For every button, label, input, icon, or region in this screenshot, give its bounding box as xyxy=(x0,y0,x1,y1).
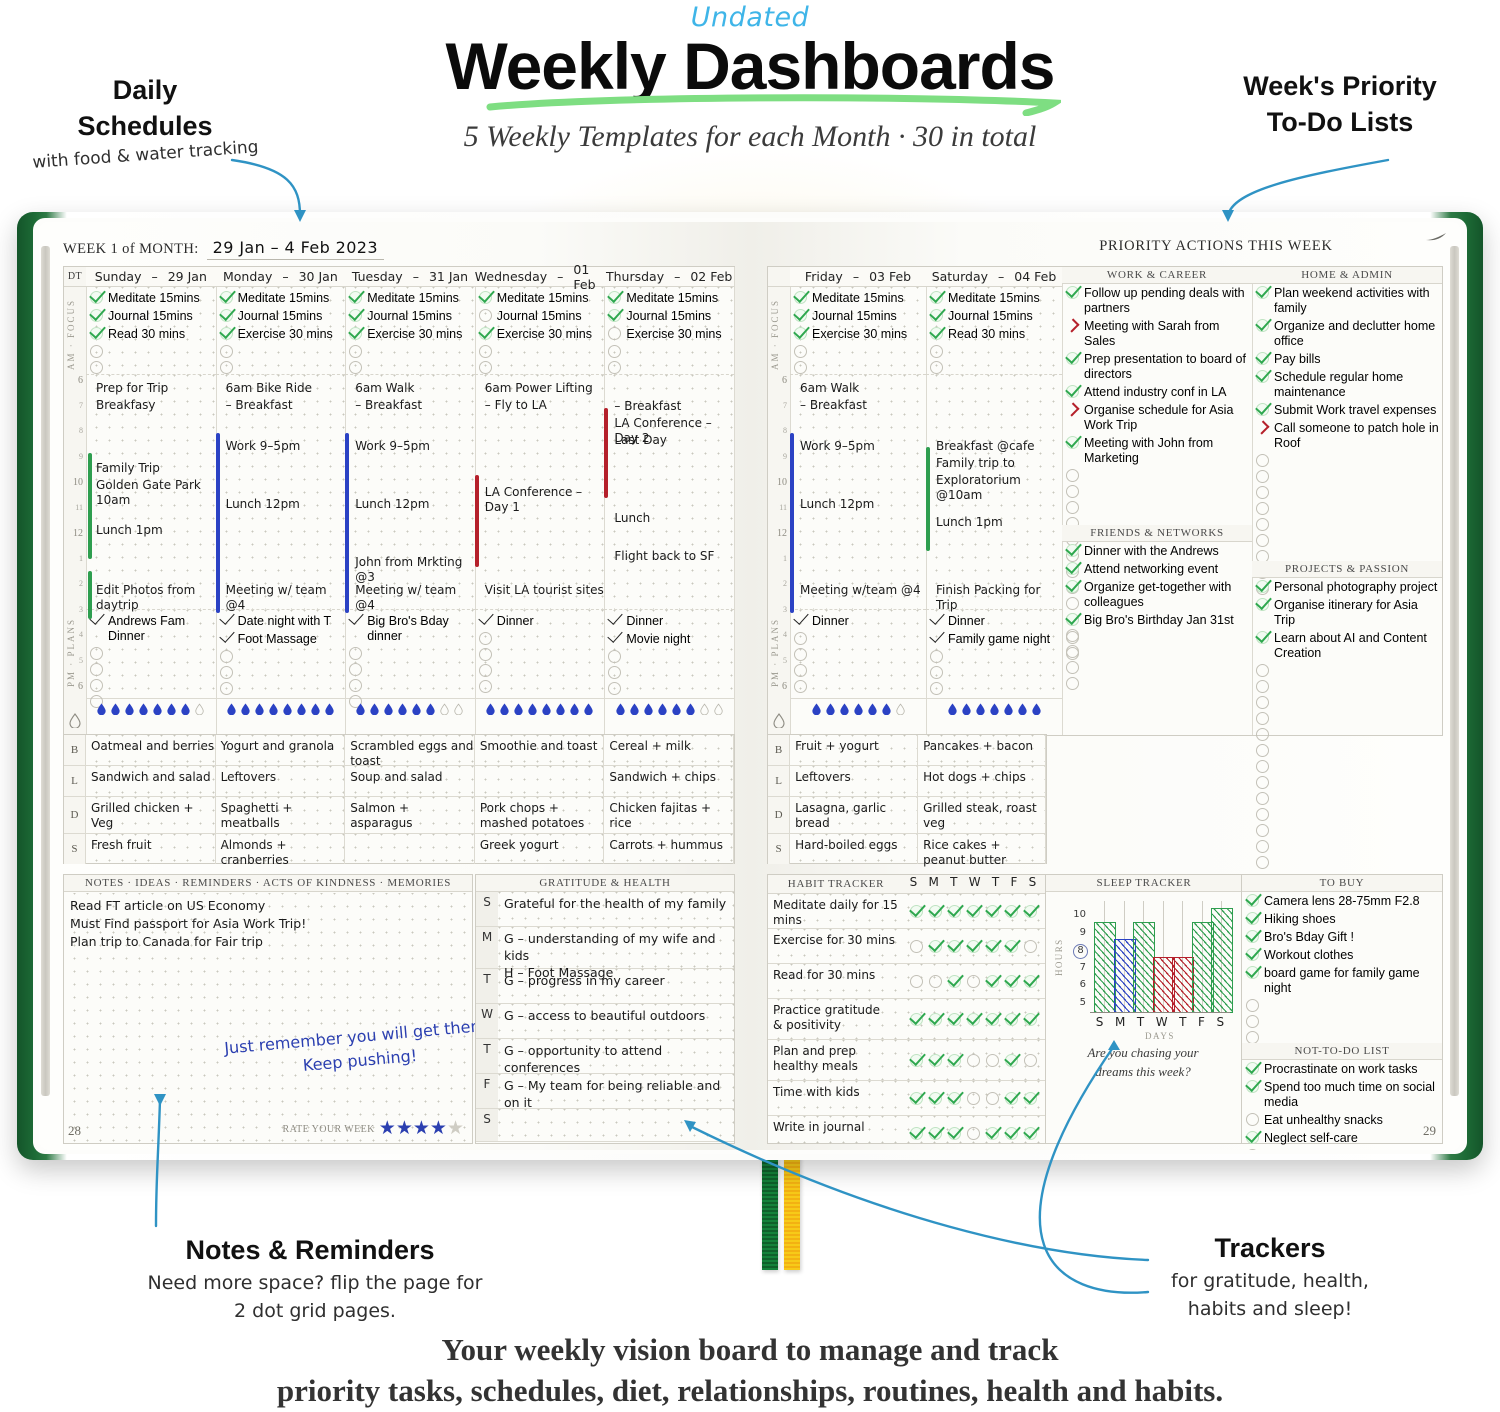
schedule-event[interactable]: – Fly to LA xyxy=(485,398,547,413)
checkbox-checked[interactable] xyxy=(349,309,362,322)
checkbox-empty[interactable] xyxy=(1246,1031,1259,1044)
star-icon[interactable]: ★ xyxy=(379,1118,396,1139)
checkbox-checked[interactable] xyxy=(1256,631,1269,644)
schedule-event[interactable]: Work 9–5pm xyxy=(226,439,301,454)
list-item[interactable]: Meeting with John from Marketing xyxy=(1062,434,1252,467)
water-drop-icon[interactable] xyxy=(976,703,985,715)
list-item[interactable]: Foot Massage xyxy=(216,630,346,648)
checkbox-checked[interactable] xyxy=(986,1127,999,1140)
water-drop-icon[interactable] xyxy=(412,703,421,715)
water-drop-icon[interactable] xyxy=(97,703,106,715)
water-drop-icon[interactable] xyxy=(962,703,971,715)
checkbox-empty[interactable] xyxy=(1024,940,1037,953)
gratitude-text[interactable]: G – opportunity to attend conferences xyxy=(498,1039,734,1073)
list-item[interactable] xyxy=(790,662,926,678)
schedule-event[interactable]: John from Mrkting @3 xyxy=(355,555,475,585)
checkbox-checked[interactable] xyxy=(948,940,961,953)
checkbox-empty[interactable] xyxy=(479,648,492,661)
list-item[interactable]: Plan weekend activities with family xyxy=(1252,284,1442,317)
star-icon[interactable]: ★ xyxy=(413,1118,430,1139)
am-focus-block[interactable]: Meditate 15minsJournal 15minsRead 30 min… xyxy=(86,287,216,374)
checkbox-checked[interactable] xyxy=(90,327,103,340)
list-item[interactable]: board game for family game night xyxy=(1242,964,1442,997)
water-drop-icon[interactable] xyxy=(882,703,891,715)
schedule-event[interactable]: Lunch 1pm xyxy=(936,515,1003,530)
checkbox-checked[interactable] xyxy=(1256,598,1269,611)
list-item[interactable]: Procrastinate on work tasks xyxy=(1242,1060,1442,1078)
list-item[interactable] xyxy=(1062,645,1252,661)
list-item[interactable]: Exercise 30 mins xyxy=(216,325,346,343)
week-date-range[interactable]: 29 Jan – 4 Feb 2023 xyxy=(207,238,384,260)
checkbox-empty[interactable] xyxy=(1066,631,1079,644)
meal-cell[interactable]: Lasagna, garlic bread xyxy=(790,797,918,833)
water-drop-icon[interactable] xyxy=(153,703,162,715)
schedule-block[interactable]: 6am Bike Ride– BreakfastWork 9–5pmLunch … xyxy=(216,374,346,609)
checkbox-checked[interactable] xyxy=(1256,370,1269,383)
checkbox-checked[interactable] xyxy=(1246,1080,1259,1093)
gratitude-text[interactable]: G – understanding of my wife and kidsH –… xyxy=(498,927,734,968)
gratitude-row[interactable]: TG – opportunity to attend conferences xyxy=(476,1039,734,1074)
list-item[interactable] xyxy=(926,359,1062,375)
schedule-event[interactable]: Work 9–5pm xyxy=(355,439,430,454)
water-drop-icon[interactable] xyxy=(454,703,463,715)
checkbox-empty[interactable] xyxy=(1256,712,1269,725)
checkbox-empty[interactable] xyxy=(1246,1015,1259,1028)
list-item[interactable]: Pay bills xyxy=(1252,350,1442,368)
checkbox-ticked[interactable] xyxy=(220,632,233,645)
water-tracker-row[interactable] xyxy=(345,698,475,718)
checkbox-empty[interactable] xyxy=(608,327,621,340)
list-item[interactable]: Meditate 15mins xyxy=(475,289,605,307)
checkbox-checked[interactable] xyxy=(1246,966,1259,979)
list-item[interactable] xyxy=(86,677,216,693)
schedule-event[interactable]: – Breakfast xyxy=(800,398,867,413)
rate-your-week[interactable]: RATE YOUR WEEK ★★★★★ xyxy=(283,1119,465,1139)
meal-cell[interactable]: Leftovers xyxy=(216,766,346,796)
list-item[interactable] xyxy=(1252,854,1442,870)
schedule-block[interactable]: 6am Walk– BreakfastWork 9–5pmLunch 12pmJ… xyxy=(345,374,475,609)
water-drop-icon[interactable] xyxy=(714,703,723,715)
list-item[interactable] xyxy=(1252,532,1442,548)
schedule-event[interactable]: Work 9–5pm xyxy=(800,439,875,454)
checkbox-checked[interactable] xyxy=(220,291,233,304)
list-item[interactable] xyxy=(790,359,926,375)
water-drop-icon[interactable] xyxy=(125,703,134,715)
list-item[interactable]: Dinner xyxy=(475,612,605,630)
checkbox-empty[interactable] xyxy=(794,361,807,374)
checkbox-checked[interactable] xyxy=(1246,930,1259,943)
gratitude-row[interactable]: MG – understanding of my wife and kidsH … xyxy=(476,927,734,969)
checkbox-checked[interactable] xyxy=(967,1013,980,1026)
habit-marks[interactable] xyxy=(909,1081,1046,1115)
checkbox-empty[interactable] xyxy=(1256,486,1269,499)
checkbox-checked[interactable] xyxy=(608,291,621,304)
checkbox-empty[interactable] xyxy=(1256,824,1269,837)
list-item[interactable] xyxy=(345,677,475,693)
checkbox-checked[interactable] xyxy=(1256,286,1269,299)
schedule-event[interactable]: Lunch 12pm xyxy=(355,497,429,512)
checkbox-checked[interactable] xyxy=(1024,975,1037,988)
checkbox-checked[interactable] xyxy=(986,975,999,988)
list-item[interactable] xyxy=(86,359,216,375)
meal-cell[interactable]: Scrambled eggs and toast xyxy=(345,735,475,765)
checkbox-checked[interactable] xyxy=(967,940,980,953)
checkbox-checked[interactable] xyxy=(986,1013,999,1026)
list-item[interactable]: Exercise 30 mins xyxy=(475,325,605,343)
water-drop-icon[interactable] xyxy=(840,703,849,715)
water-drop-icon[interactable] xyxy=(672,703,681,715)
list-item[interactable] xyxy=(604,664,734,680)
list-item[interactable] xyxy=(475,678,605,694)
list-item[interactable] xyxy=(345,343,475,359)
list-item[interactable] xyxy=(1062,629,1252,645)
list-item[interactable]: Learn about AI and Content Creation xyxy=(1252,629,1442,662)
habit-row[interactable]: Plan and prephealthy meals xyxy=(768,1040,1046,1081)
list-item[interactable] xyxy=(604,343,734,359)
meal-cell[interactable]: Sandwich and salad xyxy=(86,766,216,796)
checkbox-empty[interactable] xyxy=(1246,1149,1259,1151)
pm-plans-block[interactable]: Date night with TFoot Massage xyxy=(216,609,346,698)
water-drop-icon[interactable] xyxy=(570,703,579,715)
checkbox-empty[interactable] xyxy=(349,663,362,676)
checkbox-checked[interactable] xyxy=(1066,613,1079,626)
checkbox-checked[interactable] xyxy=(1246,1062,1259,1075)
checkbox-empty[interactable] xyxy=(90,345,103,358)
list-item[interactable]: Meditate 15mins xyxy=(926,289,1062,307)
list-item[interactable]: Movie night xyxy=(604,630,734,648)
schedule-event[interactable]: Lunch xyxy=(614,511,650,526)
checkbox-empty[interactable] xyxy=(479,309,492,322)
checkbox-empty[interactable] xyxy=(479,345,492,358)
list-item[interactable] xyxy=(790,646,926,662)
checkbox-empty[interactable] xyxy=(794,345,807,358)
list-item[interactable]: Attend networking event xyxy=(1062,560,1252,578)
schedule-event[interactable]: Visit LA tourist sites xyxy=(485,583,604,598)
water-drop-icon[interactable] xyxy=(356,703,365,715)
meal-cell[interactable]: Almonds + cranberries xyxy=(216,834,346,864)
arrow-marker-icon[interactable] xyxy=(1066,403,1079,416)
checkbox-empty[interactable] xyxy=(1256,664,1269,677)
checkbox-empty[interactable] xyxy=(930,345,943,358)
list-item[interactable] xyxy=(475,343,605,359)
checkbox-checked[interactable] xyxy=(930,327,943,340)
schedule-event[interactable]: – Breakfast xyxy=(226,398,293,413)
water-drop-icon[interactable] xyxy=(370,703,379,715)
rating-stars[interactable]: ★★★★★ xyxy=(379,1119,464,1139)
habit-marks[interactable] xyxy=(909,999,1046,1039)
to-buy-list[interactable]: Camera lens 28-75mm F2.8Hiking shoesBro'… xyxy=(1242,892,1442,1045)
checkbox-empty[interactable] xyxy=(1256,680,1269,693)
checkbox-empty[interactable] xyxy=(220,345,233,358)
water-drop-icon[interactable] xyxy=(486,703,495,715)
list-item[interactable] xyxy=(1252,500,1442,516)
list-item[interactable]: Big Bro's Bday dinner xyxy=(345,612,475,645)
list-item[interactable]: Spend too much time on social media xyxy=(1242,1078,1442,1111)
checkbox-empty[interactable] xyxy=(220,650,233,663)
water-drop-icon[interactable] xyxy=(440,703,449,715)
list-item[interactable] xyxy=(475,359,605,375)
list-item[interactable] xyxy=(475,646,605,662)
checkbox-empty[interactable] xyxy=(90,361,103,374)
water-drop-icon[interactable] xyxy=(426,703,435,715)
water-drop-icon[interactable] xyxy=(630,703,639,715)
habit-marks[interactable] xyxy=(909,894,1046,928)
star-icon[interactable]: ★ xyxy=(430,1118,447,1139)
checkbox-checked[interactable] xyxy=(1005,905,1018,918)
gratitude-row[interactable]: WG – access to beautiful outdoors xyxy=(476,1004,734,1039)
list-item[interactable]: Camera lens 28-75mm F2.8 xyxy=(1242,892,1442,910)
list-item[interactable] xyxy=(926,664,1062,680)
checkbox-empty[interactable] xyxy=(1256,502,1269,515)
meal-cell[interactable]: Soup and salad xyxy=(345,766,475,796)
list-item[interactable]: Call someone to patch hole in Roof xyxy=(1252,419,1442,452)
water-drop-icon[interactable] xyxy=(325,703,334,715)
water-drop-icon[interactable] xyxy=(269,703,278,715)
water-drop-icon[interactable] xyxy=(700,703,709,715)
meal-cell[interactable]: Pancakes + bacon xyxy=(918,735,1046,765)
checkbox-empty[interactable] xyxy=(929,975,942,988)
checkbox-ticked[interactable] xyxy=(608,614,621,627)
checkbox-checked[interactable] xyxy=(929,1092,942,1105)
checkbox-checked[interactable] xyxy=(1246,1131,1259,1144)
habit-marks[interactable] xyxy=(909,1040,1046,1080)
schedule-event[interactable]: Lunch 12pm xyxy=(226,497,300,512)
list-item[interactable]: Personal photography project xyxy=(1252,578,1442,596)
checkbox-checked[interactable] xyxy=(910,905,923,918)
water-drop-icon[interactable] xyxy=(686,703,695,715)
checkbox-empty[interactable] xyxy=(608,666,621,679)
list-item[interactable] xyxy=(1242,1147,1442,1150)
schedule-event[interactable]: Breakfast @cafe xyxy=(936,439,1035,454)
checkbox-checked[interactable] xyxy=(220,327,233,340)
meal-cell[interactable]: Salmon + asparagus xyxy=(345,797,475,833)
list-item[interactable] xyxy=(790,678,926,694)
list-item[interactable]: Attend industry conf in LA xyxy=(1062,383,1252,401)
meal-cell[interactable]: Smoothie and toast xyxy=(475,735,605,765)
star-icon[interactable]: ★ xyxy=(396,1118,413,1139)
am-focus-block[interactable]: Meditate 15minsJournal 15minsExercise 30… xyxy=(475,287,605,374)
checkbox-checked[interactable] xyxy=(1246,948,1259,961)
checkbox-empty[interactable] xyxy=(967,1127,980,1140)
checkbox-empty[interactable] xyxy=(1256,696,1269,709)
water-drop-icon[interactable] xyxy=(584,703,593,715)
checkbox-checked[interactable] xyxy=(910,1127,923,1140)
water-drop-icon[interactable] xyxy=(384,703,393,715)
list-item[interactable] xyxy=(1062,499,1252,515)
water-tracker-row[interactable] xyxy=(216,698,346,718)
water-drop-icon[interactable] xyxy=(181,703,190,715)
note-line[interactable]: Plan trip to Canada for Fair trip xyxy=(64,933,472,951)
meal-cell[interactable]: Chicken fajitas + rice xyxy=(604,797,734,833)
schedule-event[interactable]: Family Trip xyxy=(96,461,160,476)
checkbox-empty[interactable] xyxy=(1066,501,1079,514)
checkbox-checked[interactable] xyxy=(910,1054,923,1067)
list-item[interactable]: Organise schedule for Asia Work Trip xyxy=(1062,401,1252,434)
meal-cell[interactable] xyxy=(475,766,605,796)
checkbox-empty[interactable] xyxy=(220,682,233,695)
habit-marks[interactable] xyxy=(909,1116,1046,1150)
schedule-event[interactable]: – Breakfast xyxy=(614,399,681,414)
schedule-block[interactable]: Breakfast @cafeFamily trip toExploratori… xyxy=(926,374,1062,609)
list-item[interactable]: Meditate 15mins xyxy=(345,289,475,307)
meal-cell[interactable]: Oatmeal and berries xyxy=(86,735,216,765)
list-item[interactable]: Big Bro's Birthday Jan 31st xyxy=(1062,611,1252,629)
checkbox-checked[interactable] xyxy=(948,1092,961,1105)
list-item[interactable]: Meditate 15mins xyxy=(216,289,346,307)
checkbox-checked[interactable] xyxy=(910,1013,923,1026)
gratitude-row[interactable]: FG – My team for being reliable and on i… xyxy=(476,1074,734,1109)
schedule-block[interactable]: 6am Walk– BreakfastWork 9–5pmLunch 12pmM… xyxy=(790,374,926,609)
checkbox-checked[interactable] xyxy=(986,905,999,918)
water-tracker-row[interactable] xyxy=(926,698,1062,718)
checkbox-empty[interactable] xyxy=(1256,470,1269,483)
water-drop-icon[interactable] xyxy=(255,703,264,715)
pm-plans-block[interactable]: Big Bro's Bday dinner xyxy=(345,609,475,698)
checkbox-checked[interactable] xyxy=(349,327,362,340)
habit-row[interactable]: Exercise for 30 mins xyxy=(768,929,1046,964)
checkbox-empty[interactable] xyxy=(1256,760,1269,773)
checkbox-checked[interactable] xyxy=(1005,1013,1018,1026)
list-item[interactable] xyxy=(790,630,926,646)
list-item[interactable]: Andrews Fam Dinner xyxy=(86,612,216,645)
arrow-marker-icon[interactable] xyxy=(1066,319,1079,332)
water-drop-icon[interactable] xyxy=(854,703,863,715)
list-item[interactable] xyxy=(790,343,926,359)
schedule-event[interactable]: Meeting w/team @4 xyxy=(800,583,921,598)
habit-marks[interactable] xyxy=(909,929,1046,963)
list-item[interactable] xyxy=(345,645,475,661)
water-drop-icon[interactable] xyxy=(644,703,653,715)
water-drop-icon[interactable] xyxy=(658,703,667,715)
list-item[interactable] xyxy=(1252,790,1442,806)
checkbox-checked[interactable] xyxy=(794,291,807,304)
water-drop-icon[interactable] xyxy=(948,703,957,715)
checkbox-empty[interactable] xyxy=(608,361,621,374)
checkbox-empty[interactable] xyxy=(794,632,807,645)
meal-cell[interactable]: Fresh fruit xyxy=(86,834,216,864)
list-item[interactable] xyxy=(604,648,734,664)
list-item[interactable]: Journal 15mins xyxy=(86,307,216,325)
checkbox-checked[interactable] xyxy=(910,1092,923,1105)
checkbox-checked[interactable] xyxy=(1005,1054,1018,1067)
habit-rows[interactable]: Meditate daily for 15 minsExercise for 3… xyxy=(768,894,1046,1150)
water-drop-icon[interactable] xyxy=(812,703,821,715)
arrow-marker-icon[interactable] xyxy=(1256,421,1269,434)
habit-row[interactable]: Write in journal xyxy=(768,1116,1046,1150)
checkbox-checked[interactable] xyxy=(986,940,999,953)
list-item[interactable]: Neglect self-care xyxy=(1242,1129,1442,1147)
am-focus-block[interactable]: Meditate 15minsJournal 15minsExercise 30… xyxy=(604,287,734,374)
water-drop-icon[interactable] xyxy=(1004,703,1013,715)
meal-cell[interactable]: Pork chops + mashed potatoes xyxy=(475,797,605,833)
schedule-block[interactable]: – BreakfastLA Conference – Day 2Last Day… xyxy=(604,374,734,609)
pm-plans-block[interactable]: Dinner xyxy=(790,609,926,698)
checkbox-checked[interactable] xyxy=(90,309,103,322)
checkbox-ticked[interactable] xyxy=(930,614,943,627)
checkbox-empty[interactable] xyxy=(220,361,233,374)
list-item[interactable] xyxy=(1252,484,1442,500)
habit-row[interactable]: Read for 30 mins xyxy=(768,964,1046,999)
checkbox-empty[interactable] xyxy=(967,1092,980,1105)
am-focus-block[interactable]: Meditate 15minsJournal 15minsRead 30 min… xyxy=(926,287,1062,374)
list-item[interactable]: Hiking shoes xyxy=(1242,910,1442,928)
checkbox-ticked[interactable] xyxy=(479,614,492,627)
meal-cell[interactable]: Yogurt and granola xyxy=(216,735,346,765)
not-to-do-list[interactable]: Procrastinate on work tasksSpend too muc… xyxy=(1242,1060,1442,1150)
list-item[interactable] xyxy=(1252,468,1442,484)
am-focus-block[interactable]: Meditate 15minsJournal 15minsExercise 30… xyxy=(216,287,346,374)
checkbox-checked[interactable] xyxy=(1256,319,1269,332)
checkbox-empty[interactable] xyxy=(1066,661,1079,674)
checkbox-checked[interactable] xyxy=(349,291,362,304)
schedule-event[interactable]: Flight back to SF xyxy=(614,549,714,564)
list-item[interactable] xyxy=(1252,774,1442,790)
list-item[interactable] xyxy=(1252,678,1442,694)
checkbox-empty[interactable] xyxy=(1256,534,1269,547)
habit-marks[interactable] xyxy=(909,964,1046,998)
checkbox-empty[interactable] xyxy=(220,666,233,679)
meal-cell[interactable] xyxy=(345,834,475,864)
list-item[interactable] xyxy=(216,359,346,375)
star-icon[interactable]: ★ xyxy=(447,1118,464,1139)
schedule-event[interactable]: Lunch 12pm xyxy=(800,497,874,512)
checkbox-empty[interactable] xyxy=(986,1092,999,1105)
home-admin-list[interactable]: Plan weekend activities with familyOrgan… xyxy=(1252,284,1442,596)
checkbox-ticked[interactable] xyxy=(930,632,943,645)
water-drop-icon[interactable] xyxy=(616,703,625,715)
checkbox-checked[interactable] xyxy=(930,291,943,304)
water-drop-icon[interactable] xyxy=(297,703,306,715)
checkbox-checked[interactable] xyxy=(929,1013,942,1026)
schedule-event[interactable]: 6am Walk xyxy=(355,381,414,396)
meal-cell[interactable]: Rice cakes + peanut butter xyxy=(918,834,1046,864)
habit-tracker-section[interactable]: HABIT TRACKER SMTWTFS Meditate daily for… xyxy=(767,874,1047,1144)
schedule-block[interactable]: Prep for TripBreakfasyFamily TripGolden … xyxy=(86,374,216,609)
list-item[interactable] xyxy=(604,680,734,696)
meal-cell[interactable]: Grilled chicken + Veg xyxy=(86,797,216,833)
checkbox-checked[interactable] xyxy=(929,940,942,953)
checkbox-empty[interactable] xyxy=(90,647,103,660)
checkbox-ticked[interactable] xyxy=(349,614,362,627)
checkbox-empty[interactable] xyxy=(1256,744,1269,757)
list-item[interactable]: Schedule regular home maintenance xyxy=(1252,368,1442,401)
checkbox-empty[interactable] xyxy=(1066,469,1079,482)
checkbox-ticked[interactable] xyxy=(608,632,621,645)
checkbox-empty[interactable] xyxy=(1066,647,1079,660)
checkbox-empty[interactable] xyxy=(90,663,103,676)
list-item[interactable]: Dinner with the Andrews xyxy=(1062,542,1252,560)
list-item[interactable] xyxy=(1242,997,1442,1013)
gratitude-row[interactable]: SGrateful for the health of my family xyxy=(476,892,734,927)
list-item[interactable]: Journal 15mins xyxy=(345,307,475,325)
note-line[interactable]: Read FT article on US Economy xyxy=(64,897,472,915)
checkbox-checked[interactable] xyxy=(1005,1092,1018,1105)
list-item[interactable] xyxy=(86,661,216,677)
checkbox-checked[interactable] xyxy=(967,905,980,918)
checkbox-checked[interactable] xyxy=(1246,894,1259,907)
friends-networks-list[interactable]: Dinner with the AndrewsAttend networking… xyxy=(1062,542,1252,661)
checkbox-checked[interactable] xyxy=(948,975,961,988)
list-item[interactable] xyxy=(1252,822,1442,838)
checkbox-checked[interactable] xyxy=(608,309,621,322)
checkbox-empty[interactable] xyxy=(479,632,492,645)
schedule-event[interactable]: Breakfasy xyxy=(96,398,156,413)
checkbox-empty[interactable] xyxy=(1256,792,1269,805)
list-item[interactable]: Meditate 15mins xyxy=(604,289,734,307)
water-drop-icon[interactable] xyxy=(195,703,204,715)
list-item[interactable] xyxy=(1242,1013,1442,1029)
checkbox-empty[interactable] xyxy=(910,940,923,953)
